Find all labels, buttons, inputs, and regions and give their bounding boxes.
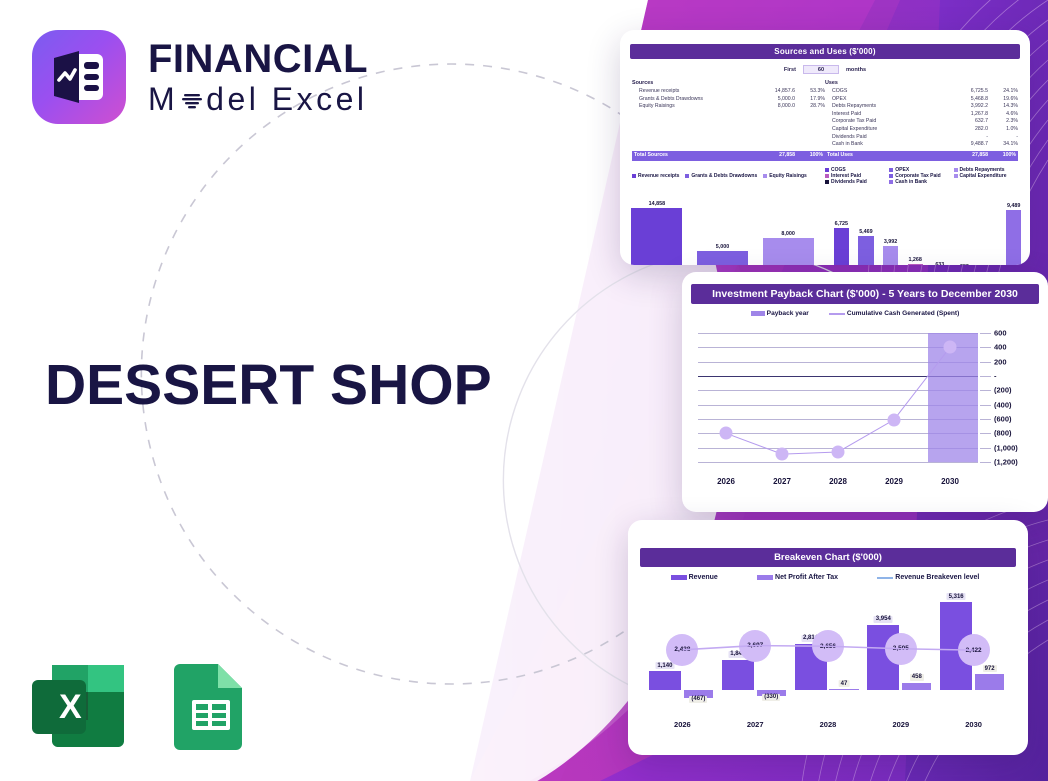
row-value: 5,000.0 [757, 96, 795, 104]
google-sheets-icon [170, 660, 250, 757]
y-tick [980, 419, 991, 420]
row-pct: 24.1% [988, 88, 1018, 96]
legend-bar-swatch [671, 575, 687, 580]
table-spacer [632, 134, 825, 142]
payback-x-axis-labels: 20262027202820292030 [698, 477, 978, 486]
y-tick [980, 448, 991, 449]
legend-label: Equity Raisings [769, 173, 807, 179]
microsoft-excel-icon: X [30, 660, 128, 757]
brand-line2-prefix: M [148, 83, 178, 115]
sources-bar-column: 14,858 [624, 187, 690, 265]
legend-swatch [825, 180, 829, 184]
y-tick-label: (800) [994, 429, 1012, 438]
legend-band-swatch [751, 311, 765, 316]
y-tick [980, 333, 991, 334]
sources-row: Revenue receipts14,857.653.3% [632, 88, 825, 96]
row-label: Cash in Bank [825, 141, 950, 149]
uses-heading: Uses [825, 80, 1018, 86]
data-point [832, 445, 845, 458]
row-label: OPEX [825, 96, 950, 104]
uses-chart-legend: COGSOPEXDebts RepaymentsInterest PaidCor… [825, 167, 1018, 185]
bar-value-label: 633 [935, 262, 944, 265]
y-tick [980, 362, 991, 363]
row-label: Dividends Paid [825, 134, 950, 142]
breakeven-chart: 1,140(467)2,4381,848(330)2,6972,814472,6… [642, 591, 1014, 731]
x-tick-label: 2027 [719, 720, 792, 729]
row-pct: 19.6% [988, 96, 1018, 104]
sources-total-pct: 100% [795, 152, 825, 159]
uses-legend-item: Dividends Paid [825, 179, 889, 185]
row-label: Revenue receipts [632, 88, 757, 96]
table-spacer [632, 126, 825, 134]
legend-swatch [889, 168, 893, 172]
breakeven-level-line [646, 591, 1010, 705]
sources-bar-column: 5,000 [690, 187, 756, 265]
uses-total-row: Total Uses 27,858 100% [825, 151, 1018, 161]
row-pct: 34.1% [988, 141, 1018, 149]
y-tick [980, 462, 991, 463]
sources-legend-item: Grants & Debts Drawdowns [685, 167, 757, 185]
uses-legend-item: Capital Expenditure [954, 173, 1018, 179]
legend-label: Cash in Bank [895, 179, 927, 185]
breakeven-legend-item: Revenue [671, 574, 718, 581]
row-value: 8,000.0 [757, 103, 795, 111]
bar-value-label: 5,000 [716, 244, 730, 250]
legend-label: Revenue Breakeven level [895, 574, 979, 581]
bar [858, 236, 873, 265]
legend-swatch [954, 168, 958, 172]
uses-bar-column: 282 [952, 187, 977, 265]
y-tick [980, 376, 991, 377]
period-prefix-label: First [784, 67, 796, 73]
stacked-bars-o-icon [179, 86, 205, 112]
payback-legend-item: Payback year [751, 310, 809, 317]
bar-value-label: 3,992 [884, 239, 898, 245]
y-tick-label: 200 [994, 357, 1007, 366]
sources-and-uses-card[interactable]: Sources and Uses ($'000) First 60 months… [620, 30, 1030, 265]
row-label: Corporate Tax Paid [825, 118, 950, 126]
brand-name-line2: M del Excel [148, 83, 368, 115]
legend-line-swatch [877, 577, 893, 579]
row-label: Interest Paid [825, 111, 950, 119]
x-tick-label: 2030 [937, 720, 1010, 729]
payback-y-axis: 600400200-(200)(400)(600)(800)(1,000)(1,… [980, 333, 1040, 462]
brand-line2-suffix: del Excel [206, 83, 367, 115]
uses-legend-item: Cash in Bank [889, 179, 953, 185]
bar-value-label: 282 [960, 264, 969, 265]
bar [883, 246, 898, 265]
uses-bar-chart: 6,7255,4693,9921,26863328209,489 [825, 187, 1030, 265]
data-point [944, 341, 957, 354]
sources-legend-item: Equity Raisings [763, 167, 807, 185]
row-pct: 1.0% [988, 126, 1018, 134]
y-tick-label: 400 [994, 343, 1007, 352]
brand-logo: FINANCIAL M del Excel [32, 30, 368, 124]
legend-label: Revenue receipts [638, 173, 679, 179]
period-selector[interactable]: First 60 months [620, 65, 1030, 74]
bar [834, 228, 849, 265]
table-spacer [632, 111, 825, 119]
uses-bar-column: 9,489 [1001, 187, 1026, 265]
row-value: 282.0 [950, 126, 988, 134]
data-point [720, 427, 733, 440]
x-tick-label: 2028 [810, 477, 866, 486]
row-value: 6,725.5 [950, 88, 988, 96]
uses-bar-column: 5,469 [854, 187, 879, 265]
y-tick [980, 433, 991, 434]
row-label: COGS [825, 88, 950, 96]
bar [697, 251, 748, 265]
sources-uses-table: Sources Revenue receipts14,857.653.3%Gra… [620, 74, 1030, 161]
uses-bar-column: 633 [928, 187, 953, 265]
bar-value-label: 6,725 [835, 221, 849, 227]
breakeven-plot-area: 1,140(467)2,4381,848(330)2,6972,814472,6… [646, 591, 1010, 705]
breakeven-x-axis-labels: 20262027202820292030 [646, 720, 1010, 729]
document-chart-icon [32, 30, 126, 124]
y-tick-label: (400) [994, 400, 1012, 409]
row-value: 3,992.2 [950, 103, 988, 111]
sources-total-row: Total Sources 27,858 100% [632, 151, 825, 161]
sources-row: Grants & Debts Drawdowns5,000.017.9% [632, 96, 825, 104]
uses-bar-column: 1,268 [903, 187, 928, 265]
row-label: Grants & Debts Drawdowns [632, 96, 757, 104]
x-tick-label: 2026 [646, 720, 719, 729]
breakeven-title: Breakeven Chart ($'000) [640, 548, 1016, 567]
row-value: 1,267.8 [950, 111, 988, 119]
bar [908, 264, 923, 265]
row-pct: - [988, 134, 1018, 142]
sources-row: Equity Raisings8,000.028.7% [632, 103, 825, 111]
payback-title: Investment Payback Chart ($'000) - 5 Yea… [691, 284, 1039, 304]
uses-row: Capital Expenditure282.01.0% [825, 126, 1018, 134]
legend-swatch [763, 174, 767, 178]
y-tick-label: 600 [994, 329, 1007, 338]
uses-row: Corporate Tax Paid632.72.3% [825, 118, 1018, 126]
row-value: 5,468.8 [950, 96, 988, 104]
sources-total-label: Total Sources [632, 152, 757, 159]
supported-apps: X [30, 660, 250, 757]
uses-bar-column: 3,992 [878, 187, 903, 265]
bar-value-label: 8,000 [781, 231, 795, 237]
bar-value-label: 9,489 [1007, 203, 1021, 209]
brand-name-line1: FINANCIAL [148, 39, 368, 79]
y-tick-label: (1,200) [994, 458, 1018, 467]
row-value: 14,857.6 [757, 88, 795, 96]
y-tick [980, 390, 991, 391]
sources-legend-item: Revenue receipts [632, 167, 679, 185]
uses-total-pct: 100% [988, 152, 1018, 159]
sources-chart-legend: Revenue receiptsGrants & Debts Drawdowns… [632, 167, 825, 185]
legend-swatch [889, 180, 893, 184]
investment-payback-card[interactable]: Investment Payback Chart ($'000) - 5 Yea… [682, 272, 1048, 512]
x-tick-label: 2027 [754, 477, 810, 486]
table-spacer [632, 141, 825, 149]
payback-legend-item: Cumulative Cash Generated (Spent) [829, 310, 959, 317]
y-tick-label: (600) [994, 415, 1012, 424]
bar [763, 238, 814, 265]
data-point [776, 448, 789, 461]
uses-row: Interest Paid1,267.84.6% [825, 111, 1018, 119]
bar-value-label: 14,858 [649, 201, 666, 207]
legend-line-swatch [829, 313, 845, 315]
legend-swatch [825, 174, 829, 178]
svg-text:X: X [59, 688, 82, 726]
uses-bar-column: 0 [977, 187, 1002, 265]
breakeven-card[interactable]: Breakeven Chart ($'000) RevenueNet Profi… [628, 520, 1028, 755]
payback-plot-area [698, 333, 978, 462]
y-tick [980, 405, 991, 406]
uses-row: Cash in Bank9,488.734.1% [825, 141, 1018, 149]
row-pct: 14.3% [988, 103, 1018, 111]
y-tick-label: - [994, 372, 997, 381]
row-pct: 53.3% [795, 88, 825, 96]
payback-legend: Payback yearCumulative Cash Generated (S… [682, 310, 1048, 317]
sources-bar-chart: 14,8585,0008,000 [620, 187, 825, 265]
row-value: - [950, 134, 988, 142]
legend-swatch [889, 174, 893, 178]
payback-line-series [698, 333, 978, 462]
legend-swatch [632, 174, 636, 178]
breakeven-legend-item: Revenue Breakeven level [877, 574, 979, 581]
uses-total-label: Total Uses [825, 152, 950, 159]
bar-value-label: 5,469 [859, 229, 873, 235]
x-tick-label: 2030 [922, 477, 978, 486]
row-value: 632.7 [950, 118, 988, 126]
bar [631, 208, 682, 265]
breakeven-legend-item: Net Profit After Tax [757, 574, 838, 581]
period-suffix-label: months [846, 67, 866, 73]
gridline [698, 462, 978, 463]
uses-row: COGS6,725.524.1% [825, 88, 1018, 96]
table-spacer [632, 118, 825, 126]
y-tick-label: (200) [994, 386, 1012, 395]
left-branding-panel: FINANCIAL M del Excel DESSERT SHOP [0, 0, 540, 781]
legend-swatch [825, 168, 829, 172]
legend-label: Revenue [689, 574, 718, 581]
row-label: Debts Repayments [825, 103, 950, 111]
uses-row: Debts Repayments3,992.214.3% [825, 103, 1018, 111]
row-pct: 4.6% [988, 111, 1018, 119]
x-tick-label: 2026 [698, 477, 754, 486]
x-tick-label: 2029 [864, 720, 937, 729]
row-pct: 2.3% [988, 118, 1018, 126]
legend-label: Cumulative Cash Generated (Spent) [847, 310, 959, 317]
row-label: Capital Expenditure [825, 126, 950, 134]
legend-label: Grants & Debts Drawdowns [691, 173, 757, 179]
sources-uses-title: Sources and Uses ($'000) [630, 44, 1020, 59]
page-title: DESSERT SHOP [45, 352, 492, 418]
row-label: Equity Raisings [632, 103, 757, 111]
uses-bar-column: 6,725 [829, 187, 854, 265]
row-value: 9,488.7 [950, 141, 988, 149]
legend-label: Payback year [767, 310, 809, 317]
legend-swatch [954, 174, 958, 178]
payback-chart: 600400200-(200)(400)(600)(800)(1,000)(1,… [690, 327, 1040, 492]
bar-value-label: 1,268 [908, 257, 922, 263]
sources-heading: Sources [632, 80, 825, 86]
legend-label: Dividends Paid [831, 179, 867, 185]
row-pct: 17.9% [795, 96, 825, 104]
breakeven-legend: RevenueNet Profit After TaxRevenue Break… [628, 574, 1028, 581]
uses-row: Dividends Paid-- [825, 134, 1018, 142]
y-tick [980, 347, 991, 348]
period-months-input[interactable]: 60 [803, 65, 839, 74]
sources-bar-column: 8,000 [755, 187, 821, 265]
sources-column: Sources Revenue receipts14,857.653.3%Gra… [632, 80, 825, 161]
data-point [888, 413, 901, 426]
row-pct: 28.7% [795, 103, 825, 111]
legend-bar-swatch [757, 575, 773, 580]
uses-row: OPEX5,468.819.6% [825, 96, 1018, 104]
legend-label: Net Profit After Tax [775, 574, 838, 581]
bar [1006, 210, 1021, 266]
uses-total-value: 27,858 [950, 152, 988, 159]
x-tick-label: 2029 [866, 477, 922, 486]
legend-swatch [685, 174, 689, 178]
sources-total-value: 27,858 [757, 152, 795, 159]
y-tick-label: (1,000) [994, 443, 1018, 452]
x-tick-label: 2028 [792, 720, 865, 729]
uses-column: Uses COGS6,725.524.1%OPEX5,468.819.6%Deb… [825, 80, 1018, 161]
legend-label: Capital Expenditure [960, 173, 1007, 179]
